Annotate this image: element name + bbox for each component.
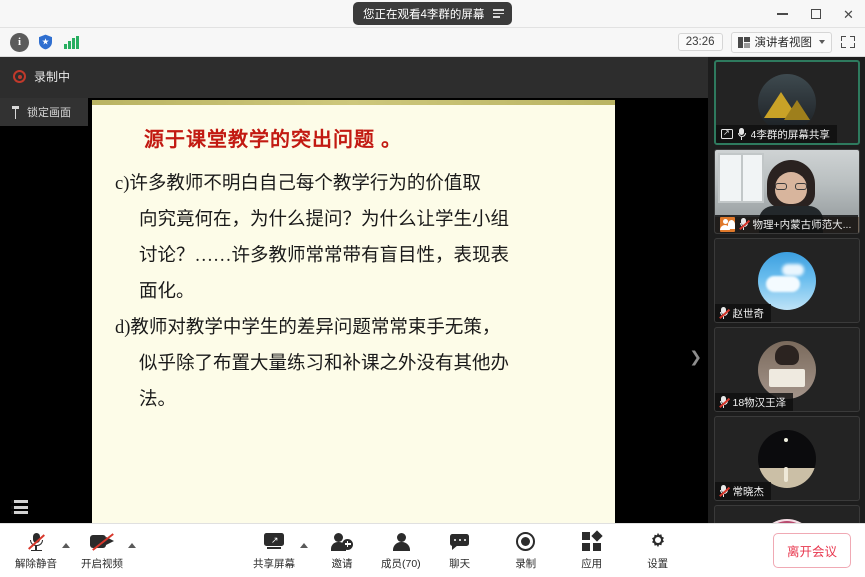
maximize-icon bbox=[811, 9, 821, 19]
record-circle-icon bbox=[516, 531, 535, 553]
avatar bbox=[758, 341, 816, 399]
signal-bars bbox=[64, 36, 79, 49]
slide-line: 讨论？……许多教师常常带有盲目性，表现表 bbox=[115, 238, 595, 274]
start-video-label: 开启视频 bbox=[81, 556, 123, 571]
share-screen-label: 共享屏幕 bbox=[253, 556, 295, 571]
start-video-button[interactable]: 开启视频 bbox=[78, 531, 126, 571]
view-mode-label: 演讲者视图 bbox=[755, 34, 813, 50]
record-button[interactable]: 录制 bbox=[504, 531, 548, 571]
shared-screen-stage[interactable]: 录制中 锁定画面 源于课堂教学的突出问题 。 c)许多教师不明白自己每个教学行为… bbox=[0, 57, 708, 523]
slide-line: 法。 bbox=[115, 382, 595, 418]
screen-share-banner[interactable]: 您正在观看4李群的屏幕 bbox=[353, 2, 512, 25]
close-button[interactable]: ✕ bbox=[832, 0, 865, 28]
participant-tile[interactable]: 常晓杰 bbox=[714, 416, 860, 501]
leave-meeting-button[interactable]: 离开会议 bbox=[773, 533, 851, 568]
participant-name: 赵世奇 bbox=[733, 306, 765, 321]
meeting-info-right: 23:26 演讲者视图 bbox=[678, 32, 865, 53]
meeting-clock: 23:26 bbox=[678, 33, 723, 51]
unmute-button[interactable]: 解除静音 bbox=[12, 531, 60, 571]
participants-label: 成员(70) bbox=[381, 556, 421, 571]
meeting-controls-toolbar: 解除静音 开启视频 ↗ 共享屏幕 邀请 bbox=[0, 523, 865, 577]
avatar bbox=[758, 252, 816, 310]
participant-name: 常晓杰 bbox=[733, 484, 765, 499]
share-options-chevron-up-icon[interactable] bbox=[300, 543, 308, 548]
participant-tile[interactable]: 4李群的屏幕共享 bbox=[714, 60, 860, 145]
chevron-down-icon bbox=[819, 40, 825, 44]
slide-line: d)教师对教学中学生的差异问题常常束手无策， bbox=[115, 310, 595, 346]
meeting-info-left: i bbox=[0, 33, 81, 52]
avatar bbox=[758, 74, 816, 132]
microphone-muted-icon bbox=[740, 218, 748, 230]
video-options-chevron-up-icon[interactable] bbox=[128, 543, 136, 548]
close-icon: ✕ bbox=[843, 8, 854, 21]
slide-body: c)许多教师不明白自己每个教学行为的价值取 向究竟何在，为什么提问？为什么让学生… bbox=[115, 166, 595, 418]
microphone-muted-icon bbox=[28, 531, 44, 553]
apps-button[interactable]: 应用 bbox=[570, 531, 614, 571]
pin-icon bbox=[11, 106, 20, 119]
fullscreen-icon[interactable] bbox=[840, 34, 856, 50]
person-icon bbox=[392, 531, 410, 553]
gear-icon bbox=[648, 531, 668, 553]
microphone-muted-icon bbox=[720, 485, 728, 497]
participants-button[interactable]: 成员(70) bbox=[378, 531, 424, 571]
participant-name: 18物汉王泽 bbox=[733, 395, 787, 410]
recording-label: 录制中 bbox=[34, 68, 70, 85]
participant-nameplate: 18物汉王泽 bbox=[715, 393, 794, 411]
slide-line: 面化。 bbox=[115, 274, 595, 310]
slide-line: 向究竟何在，为什么提问？为什么让学生小组 bbox=[115, 202, 595, 238]
hamburger-menu-icon[interactable] bbox=[493, 9, 504, 18]
invite-button[interactable]: 邀请 bbox=[320, 531, 364, 571]
minimize-icon bbox=[777, 13, 788, 14]
recording-indicator[interactable]: 录制中 bbox=[13, 68, 70, 85]
apps-grid-icon bbox=[582, 531, 601, 553]
presentation-slide: 源于课堂教学的突出问题 。 c)许多教师不明白自己每个教学行为的价值取 向究竟何… bbox=[92, 100, 615, 523]
lock-screen-label: 锁定画面 bbox=[27, 104, 71, 120]
record-label: 录制 bbox=[515, 556, 536, 571]
signal-strength-icon[interactable] bbox=[62, 33, 81, 52]
camera-off-icon bbox=[90, 531, 114, 553]
stage-top-bar bbox=[0, 57, 708, 98]
invite-label: 邀请 bbox=[332, 556, 353, 571]
microphone-muted-icon bbox=[720, 396, 728, 408]
slide-line: 似乎除了布置大量练习和补课之外没有其他办 bbox=[115, 346, 595, 382]
add-person-icon bbox=[331, 531, 353, 553]
settings-label: 设置 bbox=[647, 556, 668, 571]
chat-label: 聊天 bbox=[449, 556, 470, 571]
share-screen-button[interactable]: ↗ 共享屏幕 bbox=[250, 531, 298, 571]
minimize-button[interactable] bbox=[766, 0, 799, 28]
slide-title: 源于课堂教学的突出问题 。 bbox=[144, 123, 584, 152]
microphone-icon bbox=[738, 128, 746, 140]
participant-tile[interactable]: 赵世奇 bbox=[714, 238, 860, 323]
chevron-right-icon[interactable]: ❯ bbox=[689, 350, 702, 365]
microphone-muted-icon bbox=[720, 307, 728, 319]
gear-icon-svg bbox=[648, 532, 668, 552]
share-screen-icon bbox=[721, 129, 733, 139]
participant-filmstrip[interactable]: 4李群的屏幕共享 物理+内蒙古师范大... 赵世奇 bbox=[708, 57, 865, 523]
participant-tile[interactable]: 18物汉王泽 bbox=[714, 327, 860, 412]
participant-tile[interactable] bbox=[714, 505, 860, 523]
window-controls: ✕ bbox=[766, 0, 865, 28]
participant-tile[interactable]: 物理+内蒙古师范大... bbox=[714, 149, 860, 234]
maximize-button[interactable] bbox=[799, 0, 832, 28]
zoom-meeting-window: 您正在观看4李群的屏幕 ✕ i 23:26 bbox=[0, 0, 865, 577]
participant-name: 物理+内蒙古师范大... bbox=[753, 217, 852, 232]
participant-nameplate: 赵世奇 bbox=[715, 304, 772, 322]
meeting-info-bar: i 23:26 演讲者视图 bbox=[0, 28, 865, 57]
title-bar: 您正在观看4李群的屏幕 ✕ bbox=[0, 0, 865, 28]
audio-options-chevron-up-icon[interactable] bbox=[62, 543, 70, 548]
share-screen-icon: ↗ bbox=[263, 531, 285, 553]
host-badge-icon bbox=[720, 217, 735, 232]
avatar bbox=[758, 430, 816, 488]
slide-top-border bbox=[92, 100, 615, 105]
lock-screen-button[interactable]: 锁定画面 bbox=[0, 98, 88, 126]
slide-line: c)许多教师不明白自己每个教学行为的价值取 bbox=[115, 166, 595, 202]
participant-nameplate: 物理+内蒙古师范大... bbox=[715, 215, 859, 233]
participant-nameplate: 4李群的屏幕共享 bbox=[716, 125, 837, 143]
info-icon[interactable]: i bbox=[10, 33, 29, 52]
record-dot-icon bbox=[13, 70, 26, 83]
shield-icon[interactable] bbox=[36, 33, 55, 52]
chat-bubble-icon bbox=[450, 531, 470, 553]
view-mode-selector[interactable]: 演讲者视图 bbox=[731, 32, 833, 53]
unmute-label: 解除静音 bbox=[15, 556, 57, 571]
apps-label: 应用 bbox=[581, 556, 602, 571]
participant-name: 4李群的屏幕共享 bbox=[751, 127, 830, 142]
layout-icon bbox=[738, 37, 750, 48]
screen-share-banner-text: 您正在观看4李群的屏幕 bbox=[363, 6, 484, 22]
chat-button[interactable]: 聊天 bbox=[438, 531, 482, 571]
participant-nameplate: 常晓杰 bbox=[715, 482, 772, 500]
list-view-icon[interactable] bbox=[11, 500, 28, 514]
settings-button[interactable]: 设置 bbox=[636, 531, 680, 571]
shield-icon-svg bbox=[38, 34, 53, 50]
